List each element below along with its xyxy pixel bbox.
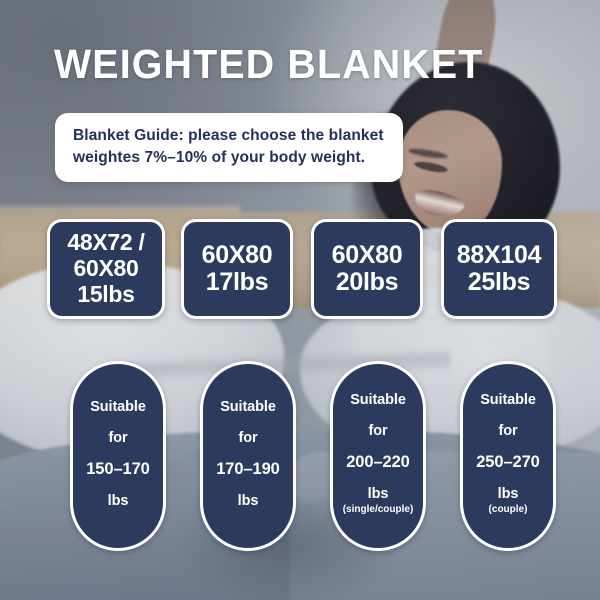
weighted-blanket-infographic: WEIGHTED BLANKET Blanket Guide: please c… xyxy=(0,0,600,600)
page-title: WEIGHTED BLANKET xyxy=(54,44,484,85)
size-card-1: 48X72 / 60X80 15lbs xyxy=(47,219,165,319)
size-card-2-line-1: 60X80 xyxy=(202,242,273,270)
suitable-pill-2-label-1: Suitable xyxy=(220,400,276,415)
size-card-4: 88X104 25lbs xyxy=(441,219,557,319)
suitable-pill-1-label-2: for xyxy=(108,431,127,446)
size-card-4-line-1: 88X104 xyxy=(457,242,541,270)
blanket-guide-line-1: Blanket Guide: please choose the blanket xyxy=(73,127,384,144)
suitable-pill-2-unit: lbs xyxy=(238,494,259,509)
suitable-pill-1-unit: lbs xyxy=(108,494,129,509)
poster-content: WEIGHTED BLANKET Blanket Guide: please c… xyxy=(0,0,600,600)
size-card-2-line-2: 17lbs xyxy=(206,269,268,297)
suitable-weight-pill-row: Suitable for 150–170 lbs Suitable for 17… xyxy=(0,361,600,557)
blanket-guide-text: Blanket Guide: please choose the blanket… xyxy=(73,125,385,169)
suitable-pill-4-label-2: for xyxy=(498,424,517,439)
blanket-guide-line-2: weightes 7%–10% of your body weight. xyxy=(73,149,365,166)
suitable-pill-2: Suitable for 170–190 lbs xyxy=(200,361,296,551)
suitable-pill-1-range: 150–170 xyxy=(86,461,150,478)
blanket-guide-callout: Blanket Guide: please choose the blanket… xyxy=(55,113,403,182)
suitable-pill-2-range: 170–190 xyxy=(216,461,280,478)
suitable-pill-4-note: (couple) xyxy=(489,505,528,515)
size-card-3-line-1: 60X80 xyxy=(332,242,403,270)
suitable-pill-4: Suitable for 250–270 lbs (couple) xyxy=(460,361,556,551)
suitable-pill-3-note: (single/couple) xyxy=(343,505,414,515)
suitable-pill-1: Suitable for 150–170 lbs xyxy=(70,361,166,551)
suitable-pill-4-range: 250–270 xyxy=(476,454,540,471)
suitable-pill-3-unit: lbs xyxy=(368,487,389,502)
size-card-1-line-2: 60X80 xyxy=(73,256,138,282)
suitable-pill-1-label-1: Suitable xyxy=(90,400,146,415)
suitable-pill-3: Suitable for 200–220 lbs (single/couple) xyxy=(330,361,426,551)
suitable-pill-4-unit: lbs xyxy=(498,487,519,502)
suitable-pill-3-label-1: Suitable xyxy=(350,393,406,408)
size-card-row: 48X72 / 60X80 15lbs 60X80 17lbs 60X80 20… xyxy=(0,219,600,327)
suitable-pill-2-label-2: for xyxy=(238,431,257,446)
size-card-1-line-1: 48X72 / xyxy=(67,230,144,256)
size-card-3: 60X80 20lbs xyxy=(311,219,423,319)
size-card-1-line-3: 15lbs xyxy=(77,282,134,308)
size-card-4-line-2: 25lbs xyxy=(468,269,530,297)
suitable-pill-4-label-1: Suitable xyxy=(480,393,536,408)
suitable-pill-3-label-2: for xyxy=(368,424,387,439)
size-card-2: 60X80 17lbs xyxy=(181,219,293,319)
suitable-pill-3-range: 200–220 xyxy=(346,454,410,471)
size-card-3-line-2: 20lbs xyxy=(336,269,398,297)
